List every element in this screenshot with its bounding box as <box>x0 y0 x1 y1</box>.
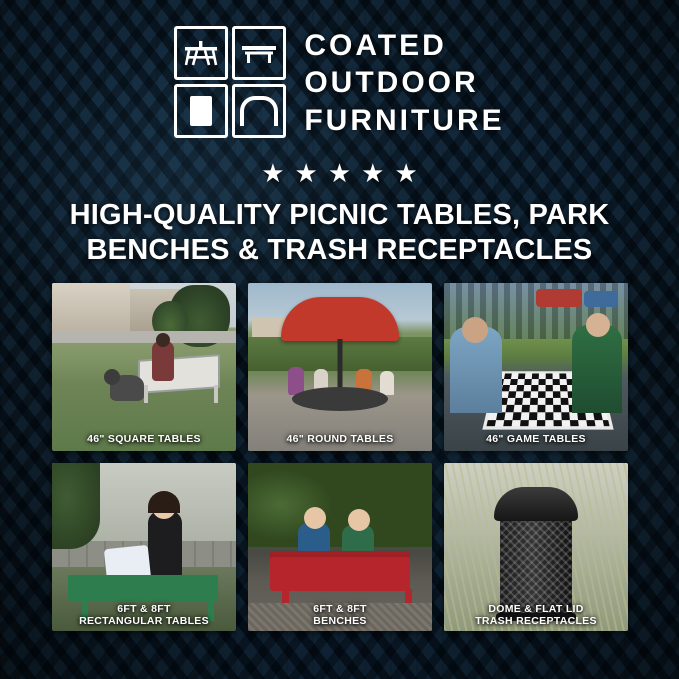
gallery-caption: 6FT & 8FT BENCHES <box>248 603 432 627</box>
gallery-caption: DOME & FLAT LID TRASH RECEPTACLES <box>444 603 628 627</box>
picnic-table-glyph <box>184 40 218 66</box>
brand-logo: COATED OUTDOOR FURNITURE <box>0 26 679 138</box>
person-head-left <box>462 317 488 343</box>
star-icon-5: ★ <box>394 160 417 186</box>
brand-wordmark: COATED OUTDOOR FURNITURE <box>304 26 504 138</box>
umbrella-pole-shape <box>338 339 343 393</box>
gallery-item-benches[interactable]: 6FT & 8FT BENCHES <box>248 463 432 631</box>
gallery-caption: 46" GAME TABLES <box>444 433 628 445</box>
gallery-item-rectangular-tables[interactable]: 6FT & 8FT RECTANGULAR TABLES <box>52 463 236 631</box>
product-gallery: 46" SQUARE TABLES 46" ROUND TABLES <box>52 283 628 631</box>
gallery-caption-line-2: BENCHES <box>252 615 428 627</box>
trash-receptacle-glyph <box>190 96 212 126</box>
person-head-right <box>586 313 610 337</box>
child-head-2 <box>348 509 370 531</box>
person-head-shape <box>156 333 170 347</box>
gallery-caption-line-2: RECTANGULAR TABLES <box>56 615 232 627</box>
person-shape <box>148 511 182 583</box>
gallery-caption: 6FT & 8FT RECTANGULAR TABLES <box>52 603 236 627</box>
park-bench-glyph <box>241 42 277 64</box>
headline-line-2: BENCHES & TRASH RECEPTACLES <box>28 233 651 268</box>
dome-lid-shape <box>494 487 578 521</box>
gallery-caption-line-1: 6FT & 8FT <box>56 603 232 615</box>
park-bench-shape <box>270 551 410 591</box>
park-bench-icon <box>232 26 286 80</box>
gallery-caption-line-1: DOME & FLAT LID <box>448 603 624 615</box>
vine-shape <box>52 463 100 549</box>
rectangular-table-shape <box>68 575 218 601</box>
star-icon-2: ★ <box>295 160 318 186</box>
gallery-item-round-tables[interactable]: 46" ROUND TABLES <box>248 283 432 451</box>
trash-can-body-shape <box>500 509 572 617</box>
page-title: HIGH-QUALITY PICNIC TABLES, PARK BENCHES… <box>0 198 679 269</box>
walkway-shape <box>52 331 236 343</box>
brand-line-2: OUTDOOR <box>304 65 504 100</box>
brand-line-3: FURNITURE <box>304 103 504 138</box>
star-icon-3: ★ <box>328 160 351 186</box>
product-poster: COATED OUTDOOR FURNITURE ★ ★ ★ ★ ★ HIGH-… <box>0 0 679 679</box>
star-rating: ★ ★ ★ ★ ★ <box>0 160 679 186</box>
arch-icon <box>232 84 286 138</box>
trash-receptacle-icon <box>174 84 228 138</box>
poster-content: COATED OUTDOOR FURNITURE ★ ★ ★ ★ ★ HIGH-… <box>0 0 679 679</box>
gallery-caption-line-2: TRASH RECEPTACLES <box>448 615 624 627</box>
arch-glyph <box>240 96 278 126</box>
round-table-shape <box>292 387 388 411</box>
gallery-caption: 46" SQUARE TABLES <box>52 433 236 445</box>
dog-head-shape <box>104 369 120 385</box>
gallery-item-game-tables[interactable]: 46" GAME TABLES <box>444 283 628 451</box>
gallery-caption-line-1: 6FT & 8FT <box>252 603 428 615</box>
person-shape <box>152 341 174 381</box>
person-shape-right <box>572 325 622 413</box>
building-shape <box>52 283 130 335</box>
shrub-shape <box>248 463 432 547</box>
gallery-item-trash-receptacles[interactable]: DOME & FLAT LID TRASH RECEPTACLES <box>444 463 628 631</box>
tent-shape-2 <box>584 291 618 307</box>
picnic-table-icon <box>174 26 228 80</box>
child-head-1 <box>304 507 326 529</box>
brand-line-1: COATED <box>304 28 504 63</box>
logo-icon-grid <box>174 26 286 138</box>
gallery-caption: 46" ROUND TABLES <box>248 433 432 445</box>
star-icon-4: ★ <box>361 160 384 186</box>
table-legs-shape <box>144 385 218 403</box>
headline-line-1: HIGH-QUALITY PICNIC TABLES, PARK <box>28 198 651 233</box>
star-icon-1: ★ <box>261 160 284 186</box>
gallery-item-square-tables[interactable]: 46" SQUARE TABLES <box>52 283 236 451</box>
tent-shape-1 <box>536 289 582 307</box>
umbrella-shape <box>281 297 399 341</box>
